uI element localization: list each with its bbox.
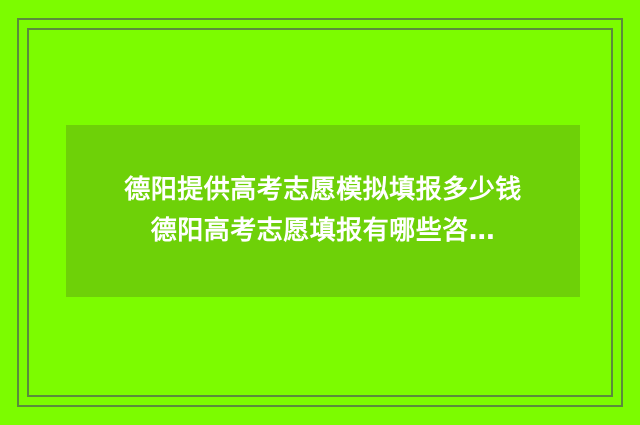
- headline-panel: 德阳提供高考志愿模拟填报多少钱 德阳高考志愿填报有哪些咨…: [66, 125, 580, 297]
- banner-canvas: 德阳提供高考志愿模拟填报多少钱 德阳高考志愿填报有哪些咨…: [0, 0, 640, 425]
- headline-line-2: 德阳高考志愿填报有哪些咨…: [66, 211, 580, 252]
- headline-line-1: 德阳提供高考志愿模拟填报多少钱: [66, 170, 580, 211]
